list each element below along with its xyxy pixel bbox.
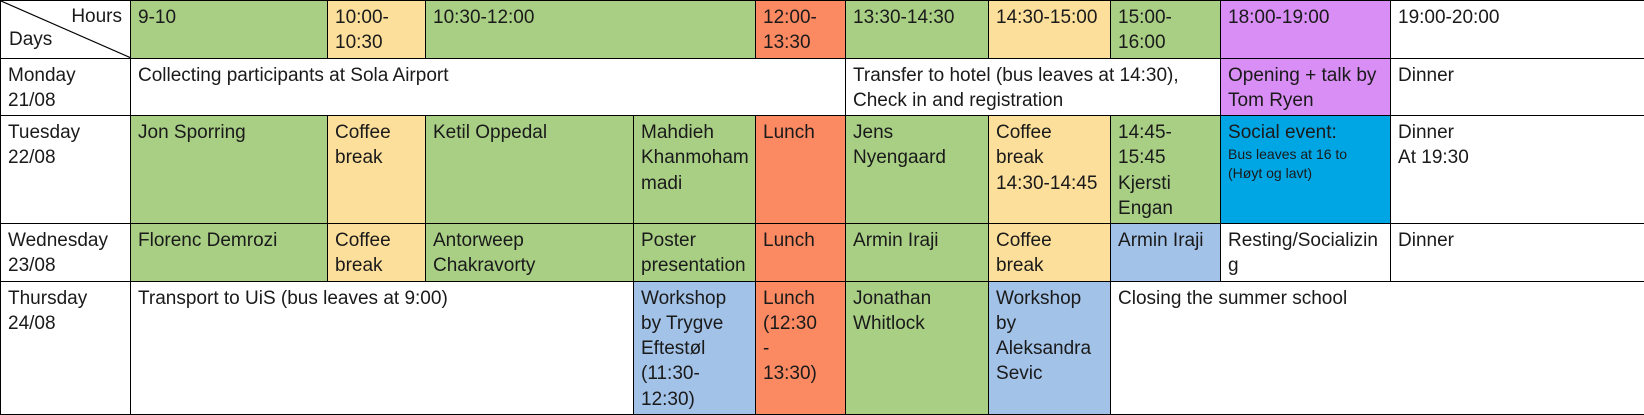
monday-transfer-line-1: Transfer to hotel (bus leaves at 14:30), bbox=[853, 63, 1214, 88]
row-thursday: Thursday 24/08 Transport to UiS (bus lea… bbox=[1, 281, 1644, 414]
thursday-workshop-1: Workshop by Trygve Eftestøl (11:30-12:30… bbox=[634, 281, 756, 414]
row-wednesday: Wednesday 23/08 Florenc Demrozi Coffee b… bbox=[1, 224, 1644, 282]
tuesday-coffee-2-time: 14:30-14:45 bbox=[996, 171, 1104, 196]
monday-opening-cell: Opening + talk by Tom Ryen bbox=[1221, 58, 1391, 116]
wednesday-poster-session: Poster presentation bbox=[634, 224, 756, 282]
tuesday-session-1: Jon Sporring bbox=[131, 116, 328, 224]
tuesday-social-event: Social event: Bus leaves at 16 to (Høyt … bbox=[1221, 116, 1391, 224]
wednesday-coffee-1: Coffee break bbox=[328, 224, 426, 282]
hours-label: Hours bbox=[71, 4, 122, 29]
thursday-lunch-time-end: 13:30) bbox=[763, 361, 839, 386]
tuesday-dinner-label: Dinner bbox=[1398, 120, 1638, 145]
tuesday-dinner-time: At 19:30 bbox=[1398, 145, 1638, 170]
tuesday-session-2: Ketil Oppedal bbox=[426, 116, 634, 224]
day-date: 24/08 bbox=[8, 311, 124, 336]
day-label-wednesday: Wednesday 23/08 bbox=[1, 224, 131, 282]
tuesday-social-note: Bus leaves at 16 to (Høyt og lavt) bbox=[1228, 145, 1384, 183]
header-row: Hours Days 9-10 10:00-10:30 10:30-12:00 … bbox=[1, 1, 1644, 59]
time-header-1900-2000: 19:00-20:00 bbox=[1391, 1, 1644, 59]
time-header-9-10: 9-10 bbox=[131, 1, 328, 59]
thursday-lunch: Lunch (12:30 - 13:30) bbox=[756, 281, 846, 414]
time-header-1030-1200: 10:30-12:00 bbox=[426, 1, 756, 59]
tuesday-session-3: Mahdieh Khanmohammadi bbox=[634, 116, 756, 224]
day-label-tuesday: Tuesday 22/08 bbox=[1, 116, 131, 224]
wednesday-coffee-2: Coffee break bbox=[989, 224, 1111, 282]
wednesday-resting: Resting/Socializing bbox=[1221, 224, 1391, 282]
thursday-workshop-2: Workshop by Aleksandra Sevic bbox=[989, 281, 1111, 414]
wednesday-dinner: Dinner bbox=[1391, 224, 1644, 282]
day-name: Wednesday bbox=[8, 228, 124, 253]
wednesday-session-1: Florenc Demrozi bbox=[131, 224, 328, 282]
schedule-table: Hours Days 9-10 10:00-10:30 10:30-12:00 … bbox=[0, 0, 1644, 415]
thursday-session-1: Jonathan Whitlock bbox=[846, 281, 989, 414]
tuesday-coffee-2-label: Coffee break bbox=[996, 120, 1104, 171]
monday-collecting-cell: Collecting participants at Sola Airport bbox=[131, 58, 846, 116]
day-label-monday: Monday 21/08 bbox=[1, 58, 131, 116]
tuesday-session-5-time: 14:45-15:45 bbox=[1118, 120, 1214, 171]
tuesday-social-title: Social event: bbox=[1228, 120, 1384, 145]
row-tuesday: Tuesday 22/08 Jon Sporring Coffee break … bbox=[1, 116, 1644, 224]
monday-transfer-cell: Transfer to hotel (bus leaves at 14:30),… bbox=[846, 58, 1221, 116]
tuesday-coffee-1: Coffee break bbox=[328, 116, 426, 224]
tuesday-dinner: Dinner At 19:30 bbox=[1391, 116, 1644, 224]
row-monday: Monday 21/08 Collecting participants at … bbox=[1, 58, 1644, 116]
time-header-1430-1500: 14:30-15:00 bbox=[989, 1, 1111, 59]
tuesday-lunch: Lunch bbox=[756, 116, 846, 224]
thursday-lunch-time-start: (12:30 bbox=[763, 311, 839, 336]
tuesday-session-4: Jens Nyengaard bbox=[846, 116, 989, 224]
day-label-thursday: Thursday 24/08 bbox=[1, 281, 131, 414]
time-header-1000-1030: 10:00-10:30 bbox=[328, 1, 426, 59]
wednesday-session-4: Armin Iraji bbox=[1111, 224, 1221, 282]
thursday-lunch-time-dash: - bbox=[763, 336, 839, 361]
wednesday-session-2: Antorweep Chakravorty bbox=[426, 224, 634, 282]
thursday-closing: Closing the summer school bbox=[1111, 281, 1644, 414]
corner-header-cell: Hours Days bbox=[1, 1, 131, 59]
monday-transfer-line-2: Check in and registration bbox=[853, 88, 1214, 113]
thursday-transport: Transport to UiS (bus leaves at 9:00) bbox=[131, 281, 634, 414]
day-name: Tuesday bbox=[8, 120, 124, 145]
tuesday-session-5-name: Kjersti Engan bbox=[1118, 171, 1214, 222]
day-name: Thursday bbox=[8, 286, 124, 311]
days-label: Days bbox=[9, 27, 52, 52]
thursday-lunch-label: Lunch bbox=[763, 286, 839, 311]
monday-dinner-cell: Dinner bbox=[1391, 58, 1644, 116]
day-date: 21/08 bbox=[8, 88, 124, 113]
time-header-1500-1600: 15:00-16:00 bbox=[1111, 1, 1221, 59]
day-date: 22/08 bbox=[8, 145, 124, 170]
time-header-1200-1330: 12:00-13:30 bbox=[756, 1, 846, 59]
tuesday-session-5: 14:45-15:45 Kjersti Engan bbox=[1111, 116, 1221, 224]
tuesday-coffee-2: Coffee break 14:30-14:45 bbox=[989, 116, 1111, 224]
wednesday-lunch: Lunch bbox=[756, 224, 846, 282]
wednesday-session-3: Armin Iraji bbox=[846, 224, 989, 282]
time-header-1800-1900: 18:00-19:00 bbox=[1221, 1, 1391, 59]
day-name: Monday bbox=[8, 63, 124, 88]
day-date: 23/08 bbox=[8, 253, 124, 278]
time-header-1330-1430: 13:30-14:30 bbox=[846, 1, 989, 59]
